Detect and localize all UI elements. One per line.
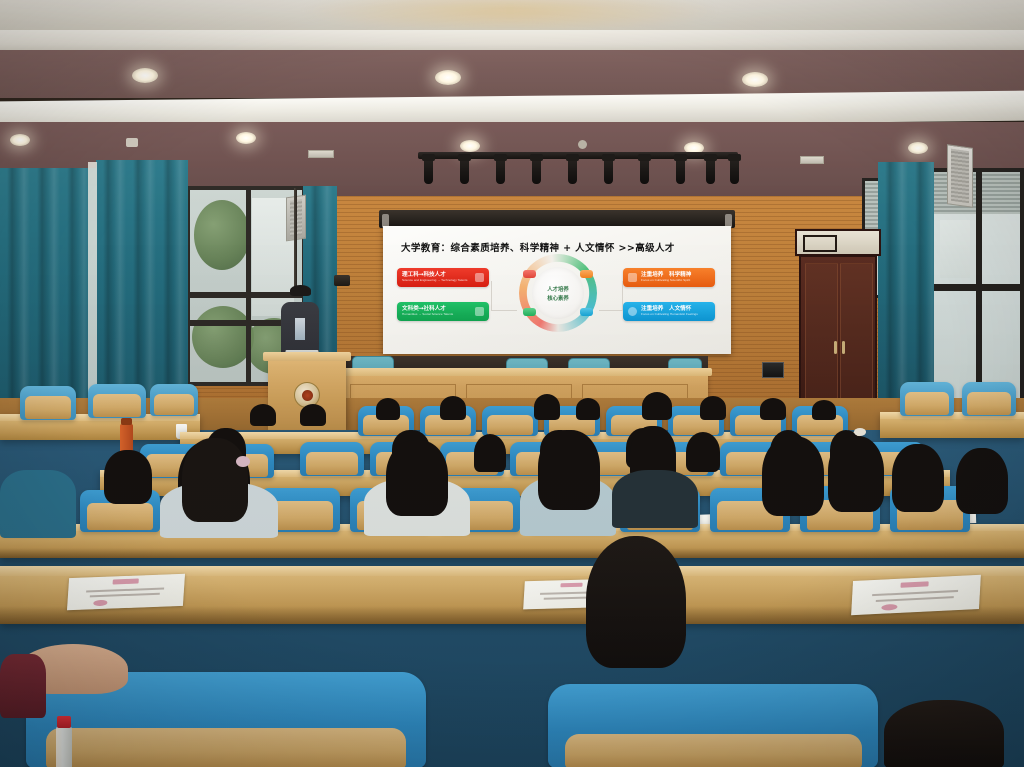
attendee-head — [956, 448, 1008, 514]
ceiling-air-vent — [800, 156, 824, 164]
transom-grille-decor — [803, 235, 837, 252]
slide-box-green: 文科类→社科人才 Humanities → Social Science Tal… — [397, 302, 489, 321]
attendee-head-foreground — [586, 536, 686, 668]
window-mullion — [934, 284, 1020, 291]
ceiling-downlight — [908, 142, 928, 154]
door-handle[interactable] — [834, 341, 837, 354]
ceiling-sensor — [126, 138, 138, 147]
slide-center-ring: 人才培养 核心素养 — [519, 254, 597, 332]
entrance-door[interactable] — [799, 255, 877, 412]
seat-back-wood — [967, 392, 1011, 414]
ring-chip-red — [523, 270, 536, 278]
attendee-head-foreground — [884, 700, 1004, 767]
window-view-tree — [192, 306, 254, 368]
attendee-head — [762, 436, 824, 516]
seat-back-wood — [905, 392, 949, 414]
track-spotlight — [730, 158, 739, 184]
window-view-tree — [194, 200, 250, 270]
ceiling-downlight — [132, 68, 158, 83]
seat-foreground-right — [548, 684, 878, 767]
desk-certificate-right — [851, 575, 981, 615]
track-spotlight — [640, 158, 649, 184]
seat-back-wood — [306, 452, 359, 474]
attendee-head — [828, 436, 884, 512]
desk-shadow — [0, 548, 1024, 558]
certificate-text-line — [86, 588, 164, 592]
seat — [88, 384, 146, 418]
slide-box-green-sublabel: Humanities → Social Science Talents — [402, 313, 471, 316]
desk-certificate-left — [67, 574, 185, 611]
ceiling-downlight — [435, 70, 461, 85]
door-transom-window — [795, 229, 881, 256]
presenter-hair — [290, 285, 311, 296]
seat — [300, 442, 364, 476]
speaker-grille — [951, 149, 969, 204]
window-mullion — [246, 190, 251, 382]
attendee-head — [182, 438, 248, 522]
ceiling-downlight — [460, 140, 480, 152]
book-icon — [475, 307, 484, 316]
ceiling-air-vent — [308, 150, 334, 158]
certificate-text-line — [90, 593, 160, 597]
certificate-text-line — [872, 590, 958, 596]
seat — [20, 386, 76, 420]
lectern-top — [263, 352, 351, 361]
seat-back-wood — [93, 394, 141, 416]
ring-chip-orange — [580, 270, 593, 278]
slide-box-red-sublabel: Science and Engineering → Technology Tal… — [402, 279, 471, 282]
minus-icon — [628, 273, 637, 282]
slide-box-orange: 注重培养 科学精神 Focus on Cultivating Scientifi… — [623, 268, 715, 287]
attendee-head — [474, 434, 506, 472]
ring-chip-blue — [580, 308, 593, 316]
attendee-hairclip — [236, 456, 250, 467]
track-spotlight — [706, 158, 715, 184]
window-view-building — [940, 220, 970, 278]
window-right — [930, 168, 1024, 402]
attendee-head — [250, 404, 276, 426]
seat-back-wood — [87, 503, 153, 531]
attendee-head — [700, 396, 726, 420]
attendee-head — [376, 398, 400, 420]
slide-box-blue: 注重培养 人文情怀 Focus on Cultivating Humanisti… — [623, 302, 715, 321]
slide-box-red: 理工科→科技人才 Science and Engineering → Techn… — [397, 268, 489, 287]
track-spotlight — [460, 158, 469, 184]
attendee-head — [534, 394, 560, 420]
attendee-head — [300, 404, 326, 426]
window-mullion — [190, 292, 302, 298]
attendee-head — [386, 440, 448, 516]
slide-box-orange-sublabel: Focus on Cultivating Scientific Spirit — [641, 279, 710, 282]
seat — [962, 382, 1016, 416]
slide-connector-left — [491, 281, 517, 311]
attendee-head — [104, 450, 152, 504]
ceiling-light-glow — [300, 0, 720, 34]
door-leaf-left[interactable] — [805, 263, 838, 404]
attendee-sleeve-foreground — [0, 654, 46, 718]
certificate-header-seal — [113, 578, 139, 584]
track-spotlight — [532, 158, 541, 184]
ceiling-smoke-detector — [578, 140, 587, 149]
lecture-hall-photo: 大学教育：综合素质培养、科学精神 + 人文情怀 >>高级人才 理工科→科技人才 … — [0, 0, 1024, 767]
head-table-surface — [338, 368, 712, 376]
attendee-head — [642, 392, 672, 420]
attendee-head — [760, 398, 786, 420]
certificate-header-seal — [900, 581, 928, 587]
certificate-stamp — [93, 600, 107, 607]
water-bottle — [56, 726, 72, 767]
track-spotlight — [496, 158, 505, 184]
seat — [900, 382, 954, 416]
slide-title: 大学教育：综合素质培养、科学精神 + 人文情怀 >>高级人才 — [401, 240, 675, 254]
attendee-head — [440, 396, 466, 420]
ring-line-2: 核心素养 — [547, 294, 569, 302]
certificate-stamp — [881, 604, 897, 611]
bottle-cap — [57, 716, 71, 728]
attendee-body — [0, 470, 76, 538]
ring-chip-green — [523, 308, 536, 316]
presenter-shirt — [295, 318, 305, 340]
speaker-cabinet-right — [762, 362, 784, 378]
microphone-stand — [294, 188, 297, 288]
ceiling-beam-front — [0, 30, 1024, 52]
seat-back-wood — [154, 394, 193, 415]
ceiling-downlight — [742, 72, 768, 87]
ceiling-downlight — [236, 132, 256, 144]
door-handle[interactable] — [842, 341, 845, 354]
certificate-text-line — [876, 596, 954, 601]
slide-connector-right — [599, 281, 623, 311]
door-leaf-right[interactable] — [840, 263, 873, 404]
seat-back-wood — [565, 734, 862, 767]
ring-center-label: 人才培养 核心素养 — [532, 267, 584, 319]
person-icon — [628, 307, 637, 316]
attendee-head — [538, 430, 600, 510]
wall-speaker-right — [947, 144, 973, 208]
seat-back-wood — [46, 728, 406, 767]
ceiling-downlight — [10, 134, 30, 146]
attendee-head — [892, 444, 944, 512]
seat-back-wood — [487, 415, 533, 435]
seat — [482, 406, 538, 436]
attendee-head — [576, 398, 600, 420]
certificate-header-seal — [560, 583, 582, 588]
document-icon — [475, 273, 484, 282]
slide-box-blue-sublabel: Focus on Cultivating Humanistic Feelings — [641, 313, 710, 316]
attendee-head — [812, 400, 836, 420]
seat-back-wood — [25, 396, 71, 418]
seat — [150, 384, 198, 416]
attendee-body — [612, 470, 698, 528]
thermos-lid — [121, 418, 132, 425]
ring-line-1: 人才培养 — [547, 285, 569, 293]
wall-camera — [334, 275, 350, 286]
projection-screen: 大学教育：综合素质培养、科学精神 + 人文情怀 >>高级人才 理工科→科技人才 … — [383, 226, 731, 354]
track-spotlight — [568, 158, 577, 184]
track-spotlight — [676, 158, 685, 184]
track-spotlight — [604, 158, 613, 184]
track-spotlight — [424, 158, 433, 184]
attendee-head — [686, 432, 720, 472]
attendee-hairclip — [854, 428, 866, 436]
